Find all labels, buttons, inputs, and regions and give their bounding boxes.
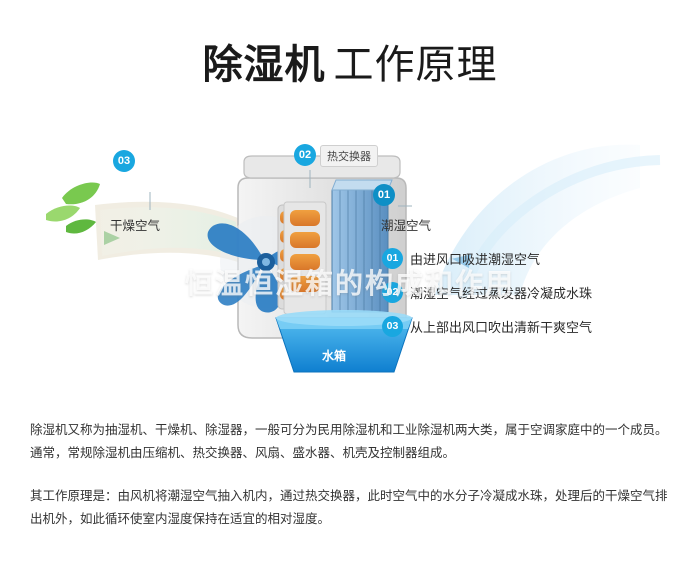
label-heat-exchanger: 热交换器	[320, 145, 378, 167]
steps-list: 01 由进风口吸进潮湿空气 02 潮湿空气经过蒸发器冷凝成水珠 03 从上部出风…	[382, 248, 682, 350]
badge-03: 03	[113, 150, 135, 172]
page-title: 除湿机工作原理	[0, 32, 700, 90]
page-title-light: 工作原理	[334, 42, 498, 88]
page-title-bold: 除湿机	[203, 42, 326, 88]
badge-01: 01	[373, 184, 395, 206]
step-badge-02: 02	[382, 282, 403, 303]
label-dry-air: 干燥空气	[110, 215, 160, 234]
step-text-02: 潮湿空气经过蒸发器冷凝成水珠	[410, 283, 592, 302]
list-item: 01 由进风口吸进潮湿空气	[382, 248, 682, 269]
label-water-tank: 水箱	[322, 347, 346, 364]
leaf-decoration	[46, 183, 100, 234]
body-paragraph-1: 除湿机又称为抽湿机、干燥机、除湿器，一般可分为民用除湿机和工业除湿机两大类，属于…	[30, 418, 670, 464]
list-item: 03 从上部出风口吹出清新干爽空气	[382, 316, 682, 337]
step-text-03: 从上部出风口吹出清新干爽空气	[410, 317, 592, 336]
label-humid-air: 潮湿空气	[381, 215, 431, 234]
step-badge-01: 01	[382, 248, 403, 269]
badge-02: 02	[294, 144, 316, 166]
step-badge-03: 03	[382, 316, 403, 337]
step-text-01: 由进风口吸进潮湿空气	[410, 249, 540, 268]
infographic-page: 除湿机工作原理	[0, 0, 700, 566]
body-paragraph-2: 其工作原理是：由风机将潮湿空气抽入机内，通过热交换器，此时空气中的水分子冷凝成水…	[30, 484, 670, 530]
list-item: 02 潮湿空气经过蒸发器冷凝成水珠	[382, 282, 682, 303]
